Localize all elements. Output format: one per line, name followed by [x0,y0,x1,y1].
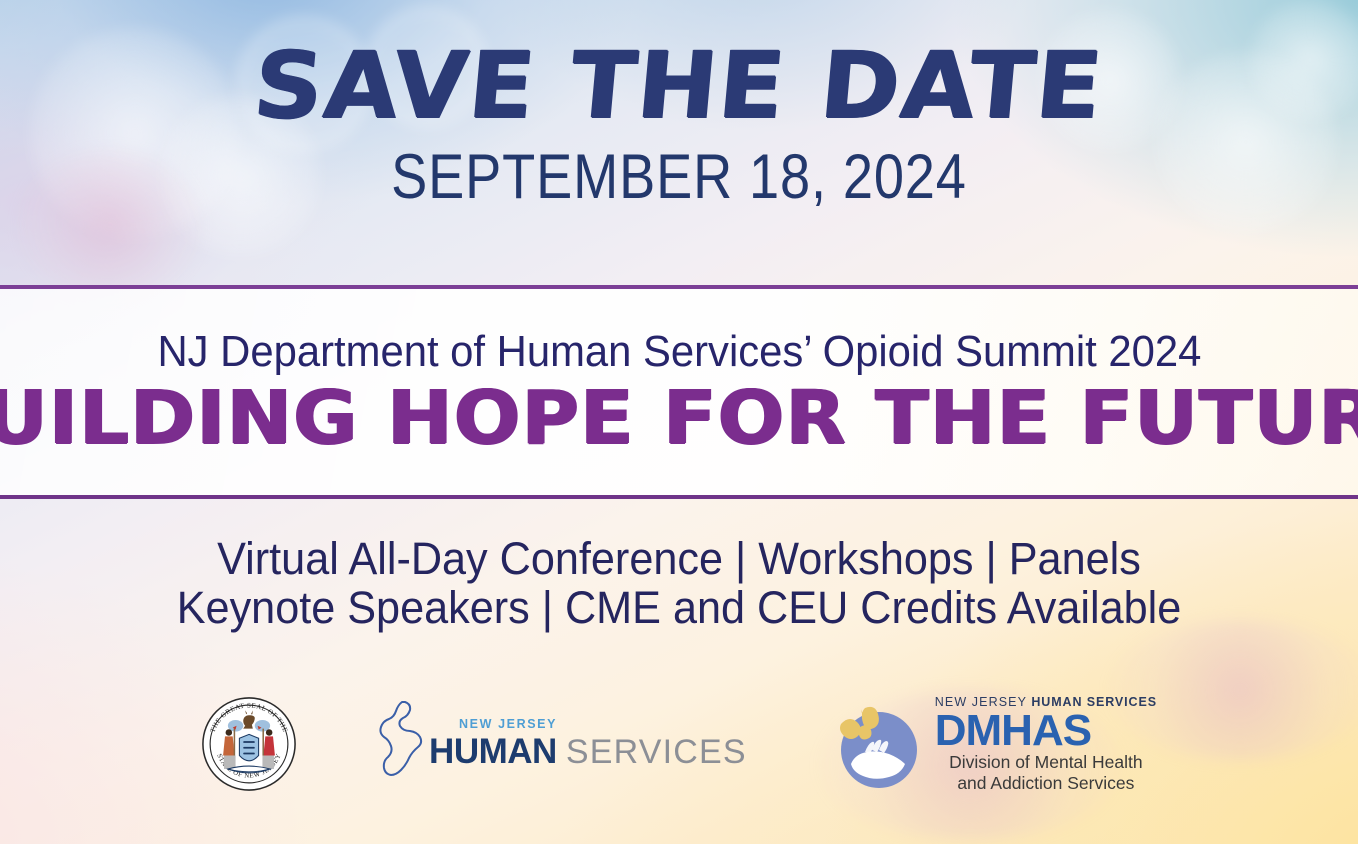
save-the-date-flyer: SAVE THE DATE SEPTEMBER 18, 2024 NJ Depa… [0,0,1358,844]
title-band: NJ Department of Human Services’ Opioid … [0,285,1358,499]
new-jersey-map-outline-icon [375,698,431,790]
event-details: Virtual All-Day Conference | Workshops |… [0,535,1358,632]
state-seal-icon: THE GREAT SEAL OF THE STATE OF NEW JERSE… [201,696,297,792]
nj-state-seal-logo: THE GREAT SEAL OF THE STATE OF NEW JERSE… [201,696,297,792]
event-date: SEPTEMBER 18, 2024 [95,146,1263,209]
dmhas-logo: NEW JERSEY HUMAN SERVICES DMHAS Division… [825,694,1157,794]
hs-word-human: HUMAN [429,732,557,772]
dmhas-butterfly-hand-icon [825,694,925,794]
save-the-date-title: SAVE THE DATE [0,40,1358,132]
dmhas-sub-line-1: Division of Mental Health [935,752,1157,773]
summit-headline: BUILDING HOPE FOR THE FUTURE [0,381,1358,455]
dmhas-wordmark: NEW JERSEY HUMAN SERVICES DMHAS Division… [935,695,1157,794]
logo-row: THE GREAT SEAL OF THE STATE OF NEW JERSE… [0,694,1358,794]
nj-human-services-logo: NEW JERSEY HUMAN SERVICES [375,698,747,790]
details-line-1: Virtual All-Day Conference | Workshops |… [27,535,1331,584]
hs-kicker: NEW JERSEY [459,717,747,731]
details-line-2: Keynote Speakers | CME and CEU Credits A… [27,584,1331,633]
header-block: SAVE THE DATE SEPTEMBER 18, 2024 [0,40,1358,209]
dmhas-acronym: DMHAS [935,710,1157,752]
dmhas-sub-line-2: and Addiction Services [935,773,1157,794]
human-services-wordmark: NEW JERSEY HUMAN SERVICES [429,717,747,772]
hs-word-services: SERVICES [566,733,747,772]
summit-subtitle: NJ Department of Human Services’ Opioid … [157,329,1201,375]
